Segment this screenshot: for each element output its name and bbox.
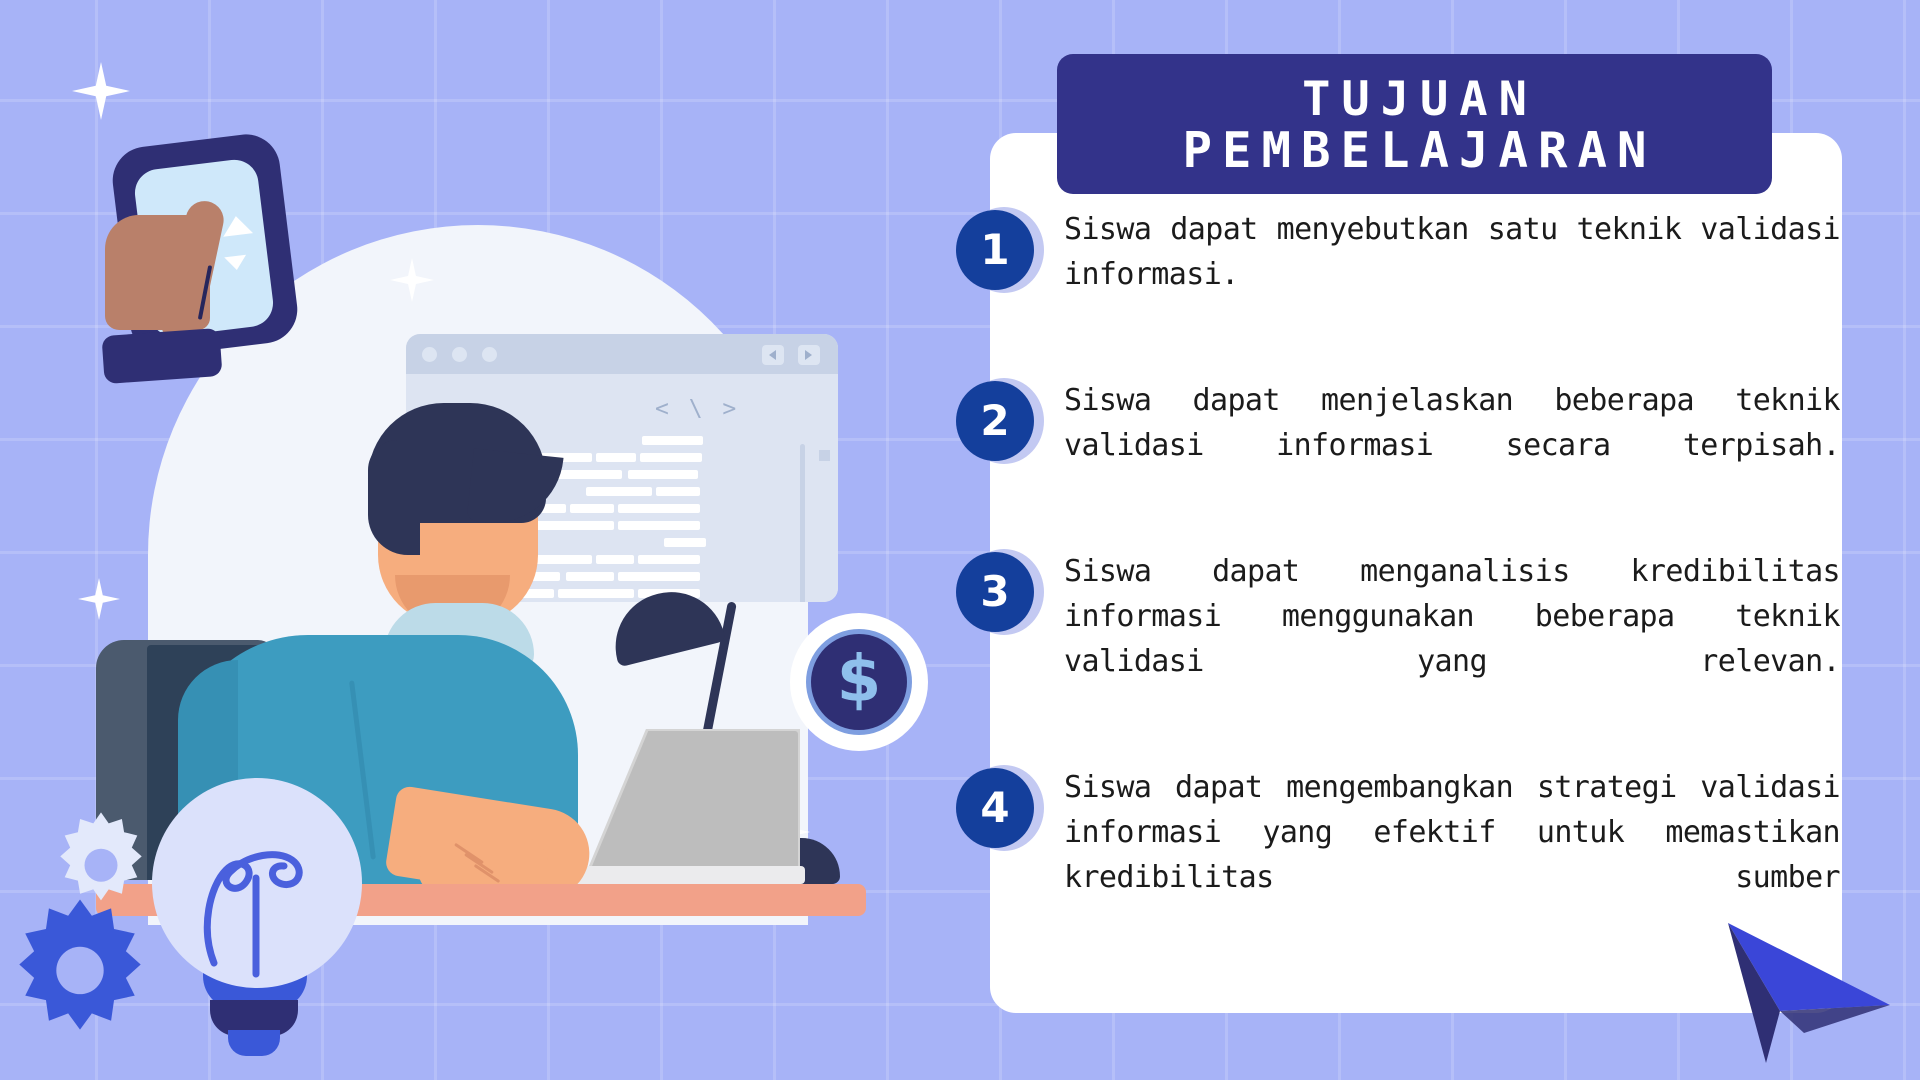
objectives-list: 1 Siswa dapat menyebutkan satu teknik va… — [1000, 205, 1842, 979]
tablet-triangle-icon — [221, 214, 253, 237]
sleeve-cuff — [101, 328, 222, 384]
list-item: 3 Siswa dapat menganalisis kredibilitas … — [1000, 547, 1842, 729]
slide-canvas: < \ > — [0, 0, 1920, 1080]
person-hair-side — [368, 440, 420, 555]
page-title-line-2: PEMBELAJARAN — [1172, 125, 1656, 177]
code-brackets-icon: < \ > — [655, 396, 739, 422]
tablet-triangle-icon — [224, 255, 248, 272]
next-arrow-icon — [798, 345, 820, 365]
objective-text: Siswa dapat menyebutkan satu teknik vali… — [1048, 207, 1842, 342]
objective-number-badge: 2 — [956, 381, 1034, 461]
page-title-line-1: TUJUAN — [1291, 75, 1538, 125]
objective-text: Siswa dapat menganalisis kredibilitas in… — [1048, 549, 1842, 729]
hero-illustration: < \ > — [0, 0, 980, 1080]
objective-number-badge: 3 — [956, 552, 1034, 632]
list-item: 4 Siswa dapat mengembangkan strategi val… — [1000, 763, 1842, 945]
objectives-panel: TUJUAN PEMBELAJARAN 1 Siswa dapat menyeb… — [990, 133, 1842, 1013]
objective-text: Siswa dapat menjelaskan beberapa teknik … — [1048, 378, 1842, 513]
code-window-titlebar — [406, 334, 838, 374]
objective-number-badge: 4 — [956, 768, 1034, 848]
code-scrollbar[interactable] — [800, 444, 805, 602]
objective-number-wrap: 4 — [956, 765, 1048, 851]
list-item: 1 Siswa dapat menyebutkan satu teknik va… — [1000, 205, 1842, 342]
objective-number-badge: 1 — [956, 210, 1034, 290]
list-item: 2 Siswa dapat menjelaskan beberapa tekni… — [1000, 376, 1842, 513]
objective-number-wrap: 3 — [956, 549, 1048, 635]
gear-icon — [6, 895, 154, 1043]
window-dot-icon — [422, 347, 437, 362]
objective-number-wrap: 1 — [956, 207, 1048, 293]
sparkle-icon — [78, 578, 120, 620]
paper-plane-icon — [1718, 905, 1898, 1065]
code-marker-icon — [819, 450, 830, 461]
lightbulb-filament-icon — [152, 778, 362, 988]
prev-arrow-icon — [762, 345, 784, 365]
objective-number-wrap: 2 — [956, 378, 1048, 464]
title-banner: TUJUAN PEMBELAJARAN — [1057, 54, 1772, 194]
dollar-icon: $ — [811, 634, 907, 730]
lightbulb-tip — [228, 1030, 280, 1056]
hand-fist — [105, 215, 210, 330]
sparkle-icon — [72, 62, 130, 120]
window-dot-icon — [482, 347, 497, 362]
window-dot-icon — [452, 347, 467, 362]
